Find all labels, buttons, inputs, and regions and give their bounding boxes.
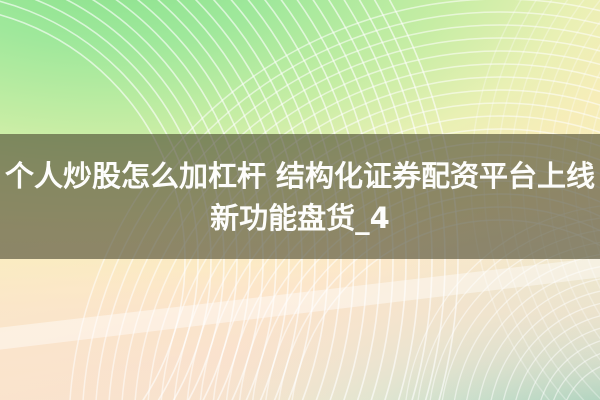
title-overlay-band: 个人炒股怎么加杠杆 结构化证券配资平台上线新功能盘货_4 xyxy=(0,134,600,259)
poster-image: 个人炒股怎么加杠杆 结构化证券配资平台上线新功能盘货_4 xyxy=(0,0,600,400)
page-title: 个人炒股怎么加杠杆 结构化证券配资平台上线新功能盘货_4 xyxy=(0,155,600,239)
